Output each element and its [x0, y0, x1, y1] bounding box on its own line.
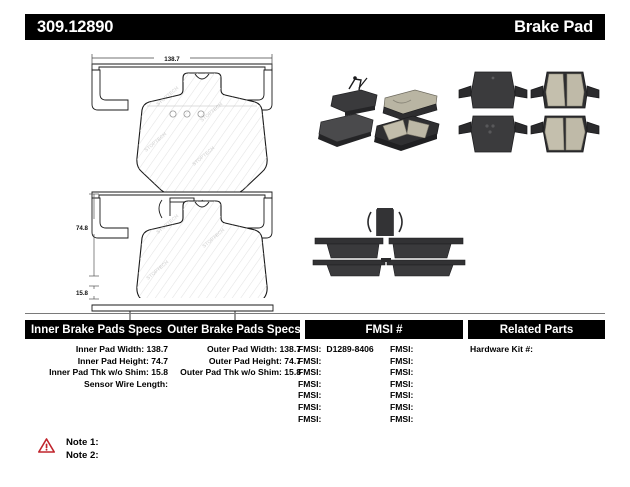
fmsi-row: FMSI: [390, 414, 450, 426]
fmsi-row: FMSI: [390, 390, 450, 402]
product-type: Brake Pad [514, 19, 593, 36]
fmsi-row: FMSI:D1289-8406 [298, 344, 383, 356]
fmsi-label: FMSI: [298, 356, 321, 368]
fmsi-label: FMSI: [298, 390, 321, 402]
fmsi-row: FMSI: [390, 379, 450, 391]
fmsi-column-secondary: FMSI:FMSI:FMSI:FMSI:FMSI:FMSI:FMSI: [390, 344, 450, 425]
fmsi-column-primary: FMSI:D1289-8406FMSI:FMSI:FMSI:FMSI:FMSI:… [298, 344, 383, 425]
outer-specs-column: Outer Pad Width: 138.7Outer Pad Height: … [168, 344, 301, 379]
column-header-outer-specs: Outer Brake Pads Specs [168, 320, 300, 339]
fmsi-label: FMSI: [390, 414, 413, 426]
fmsi-value: D1289-8406 [326, 344, 373, 356]
fmsi-label: FMSI: [298, 367, 321, 379]
fmsi-label: FMSI: [390, 344, 413, 356]
note-2-label: Note 2: [66, 449, 99, 462]
title-bar: 309.12890 Brake Pad [25, 14, 605, 40]
table-header-row: Inner Brake Pads Specs Outer Brake Pads … [25, 320, 605, 339]
column-header-fmsi: FMSI # [305, 320, 463, 339]
column-header-related-parts: Related Parts [468, 320, 605, 339]
related-parts-column: Hardware Kit #: [470, 344, 600, 356]
product-photo-edge-pair [305, 198, 480, 283]
spec-line: Outer Pad Thk w/o Shim: 15.8 [168, 367, 301, 379]
note-labels: Note 1: Note 2: [66, 436, 99, 462]
fmsi-row: FMSI: [298, 414, 383, 426]
fmsi-row: FMSI: [390, 344, 450, 356]
fmsi-row: FMSI: [390, 402, 450, 414]
fmsi-row: FMSI: [298, 379, 383, 391]
fmsi-row: FMSI: [298, 356, 383, 368]
drawing-area: 138.7 STOPTECH STOPTECH [0, 46, 630, 304]
fmsi-row: FMSI: [298, 402, 383, 414]
dimension-width-label: 138.7 [164, 56, 180, 63]
table-top-rule [25, 313, 605, 314]
fmsi-label: FMSI: [298, 344, 321, 356]
spec-line: Inner Pad Height: 74.7 [25, 356, 168, 368]
warning-triangle-icon [38, 438, 55, 458]
fmsi-row: FMSI: [298, 390, 383, 402]
fmsi-label: FMSI: [390, 390, 413, 402]
dimension-thickness-label: 15.8 [76, 290, 89, 297]
fmsi-label: FMSI: [390, 402, 413, 414]
spec-line: Hardware Kit #: [470, 344, 600, 356]
fmsi-row: FMSI: [390, 367, 450, 379]
inner-specs-column: Inner Pad Width: 138.7Inner Pad Height: … [25, 344, 168, 390]
fmsi-row: FMSI: [390, 356, 450, 368]
fmsi-label: FMSI: [390, 379, 413, 391]
product-photo-flatlay [455, 64, 605, 169]
note-1-label: Note 1: [66, 436, 99, 449]
fmsi-label: FMSI: [390, 356, 413, 368]
fmsi-label: FMSI: [298, 414, 321, 426]
column-header-inner-specs: Inner Brake Pads Specs [25, 320, 168, 339]
fmsi-label: FMSI: [298, 379, 321, 391]
spec-line: Outer Pad Height: 74.7 [168, 356, 301, 368]
notes-section: Note 1: Note 2: [38, 436, 99, 462]
fmsi-label: FMSI: [390, 367, 413, 379]
dimension-height-label: 74.8 [76, 225, 89, 232]
dimension-callouts: 74.8 15.8 [72, 186, 132, 306]
spec-line: Outer Pad Width: 138.7 [168, 344, 301, 356]
spec-line: Inner Pad Thk w/o Shim: 15.8 [25, 367, 168, 379]
fmsi-label: FMSI: [298, 402, 321, 414]
spec-line: Inner Pad Width: 138.7 [25, 344, 168, 356]
product-photo-angled [315, 70, 445, 165]
fmsi-row: FMSI: [298, 367, 383, 379]
spec-line: Sensor Wire Length: [25, 379, 168, 391]
part-number: 309.12890 [37, 19, 113, 36]
